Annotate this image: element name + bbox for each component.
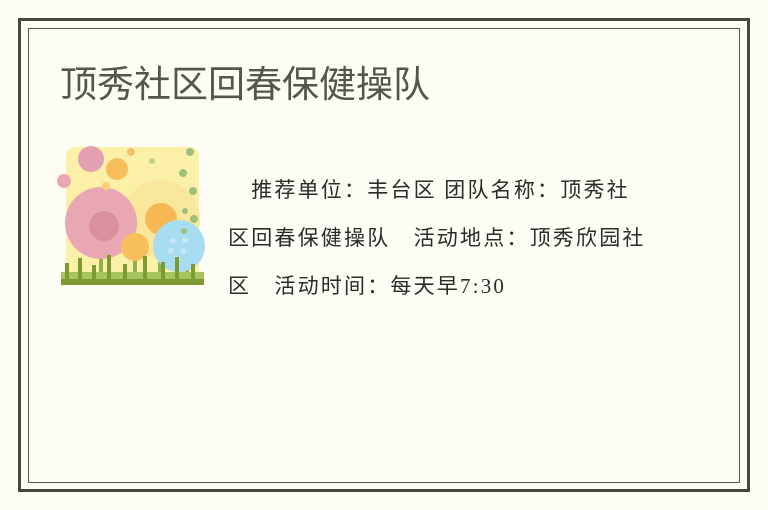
page-content: 顶秀社区回春保健操队	[0, 0, 768, 510]
certificate-page: 顶秀社区回春保健操队	[0, 0, 768, 510]
flower-garden-illustration	[57, 143, 208, 292]
page-title: 顶秀社区回春保健操队	[60, 62, 430, 108]
team-details-paragraph: 推荐单位：丰台区 团队名称：顶秀社区回春保健操队 活动地点：顶秀欣园社区 活动时…	[228, 166, 648, 310]
